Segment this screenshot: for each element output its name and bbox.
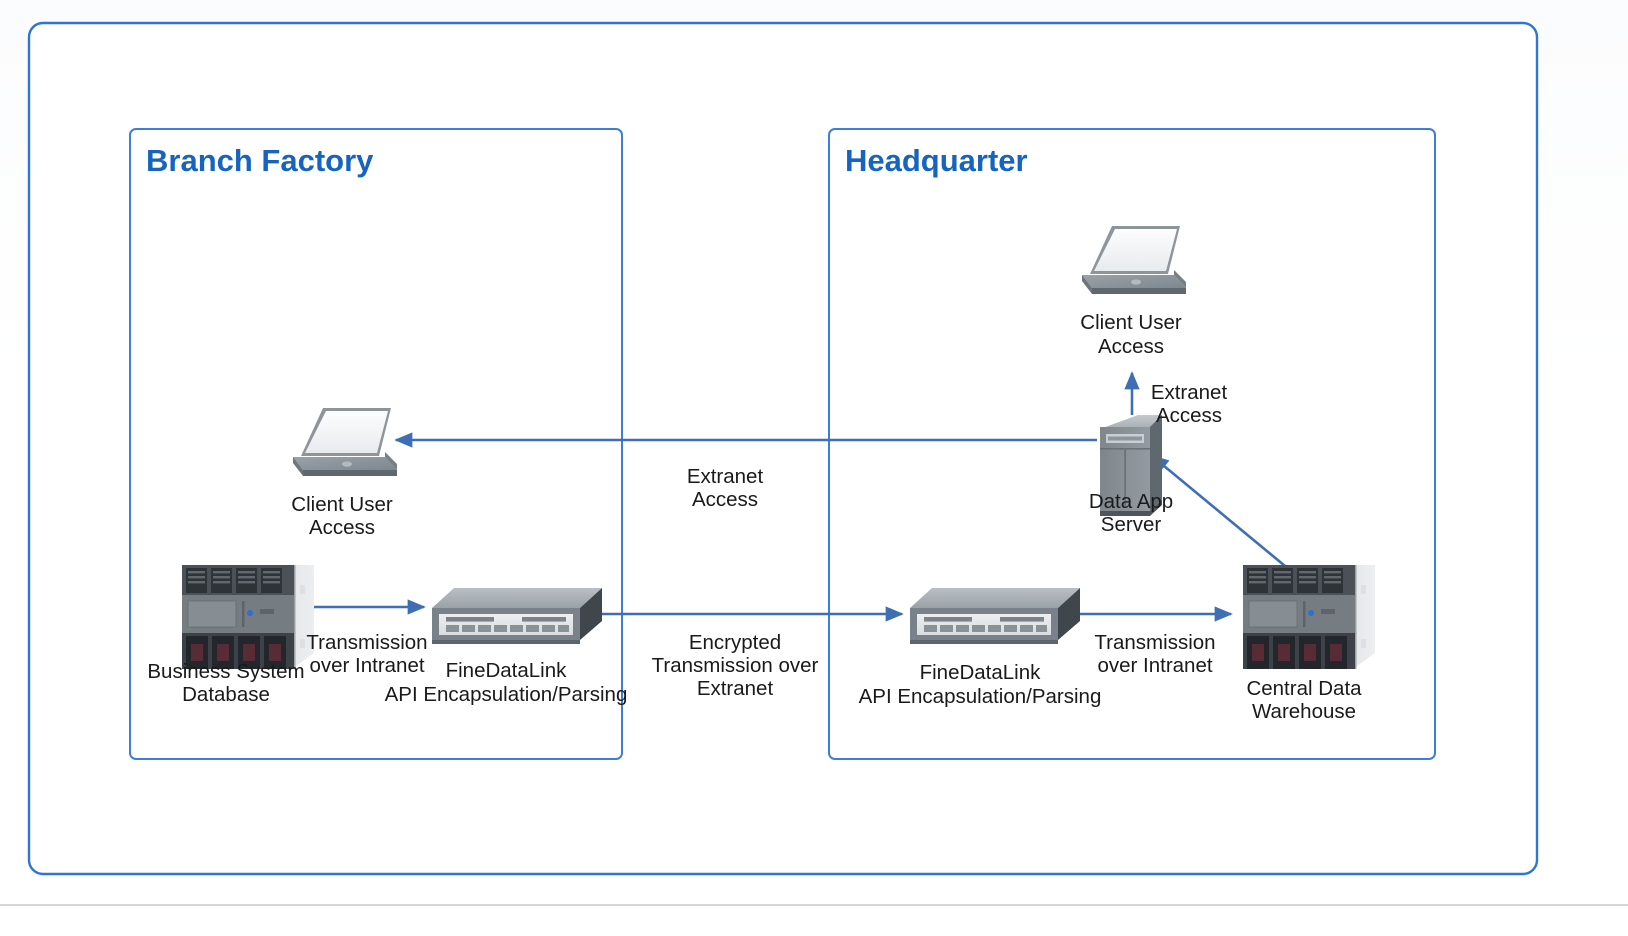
architecture-diagram: Branch Factory Headquarter Client User A… [0, 0, 1628, 936]
edge-label-fdl-dw-line2: over Intranet [1097, 654, 1212, 677]
edge-label-server-to-hq-client: Extranet Access [1151, 381, 1228, 427]
edge-label-fdl-hq-to-dw: Transmission over Intranet [1094, 631, 1215, 677]
node-label-business-db-line1: Business System [147, 660, 304, 683]
node-label-central-dw-line1: Central Data [1246, 677, 1362, 700]
node-label-data-app-server-line2: Server [1101, 513, 1162, 536]
node-label-fdl-branch-line2: API Encapsulation/Parsing [385, 683, 628, 706]
edge-label-encrypted-line3: Extranet [697, 677, 774, 700]
node-label-fdl-hq-line1: FineDataLink [920, 661, 1042, 684]
edge-label-extranet-hq-line1: Extranet [1151, 381, 1228, 404]
edge-label-encrypted-line1: Encrypted [689, 631, 781, 654]
node-label-fdl-hq-line2: API Encapsulation/Parsing [859, 685, 1102, 708]
server-rack-icon [1243, 565, 1375, 669]
edge-label-encrypted-line2: Transmission over [652, 654, 819, 677]
node-label-hq-client-line2: Access [1098, 335, 1164, 358]
edge-label-extranet-hq-line2: Access [1156, 404, 1222, 427]
group-title-branch-factory: Branch Factory [146, 143, 374, 178]
node-label-branch-client-line2: Access [309, 516, 375, 539]
server-rack-icon [182, 565, 314, 669]
edge-label-db-fdl-line1: Transmission [306, 631, 427, 654]
node-label-fdl-branch-line1: FineDataLink [446, 659, 568, 682]
node-label-central-dw-line2: Warehouse [1252, 700, 1356, 723]
network-switch-icon [432, 588, 602, 644]
edge-label-fdl-dw-line1: Transmission [1094, 631, 1215, 654]
node-label-business-db-line2: Database [182, 683, 270, 706]
node-label-hq-client-line1: Client User [1080, 311, 1182, 334]
edge-label-db-fdl-line2: over Intranet [309, 654, 424, 677]
node-data-app-server[interactable]: Data App Server [1089, 415, 1173, 536]
node-label-branch-client-line1: Client User [291, 493, 393, 516]
edge-label-extranet-center-line2: Access [692, 488, 758, 511]
edge-label-server-to-branch-client: Extranet Access [687, 465, 764, 511]
edge-label-extranet-center-line1: Extranet [687, 465, 764, 488]
edge-label-db-to-fdl-branch: Transmission over Intranet [306, 631, 427, 677]
group-title-headquarter: Headquarter [845, 143, 1028, 178]
diagram-canvas: Branch Factory Headquarter Client User A… [0, 0, 1628, 936]
network-switch-icon [910, 588, 1080, 644]
node-label-data-app-server-line1: Data App [1089, 490, 1173, 513]
node-central-data-warehouse[interactable]: Central Data Warehouse [1243, 565, 1375, 723]
